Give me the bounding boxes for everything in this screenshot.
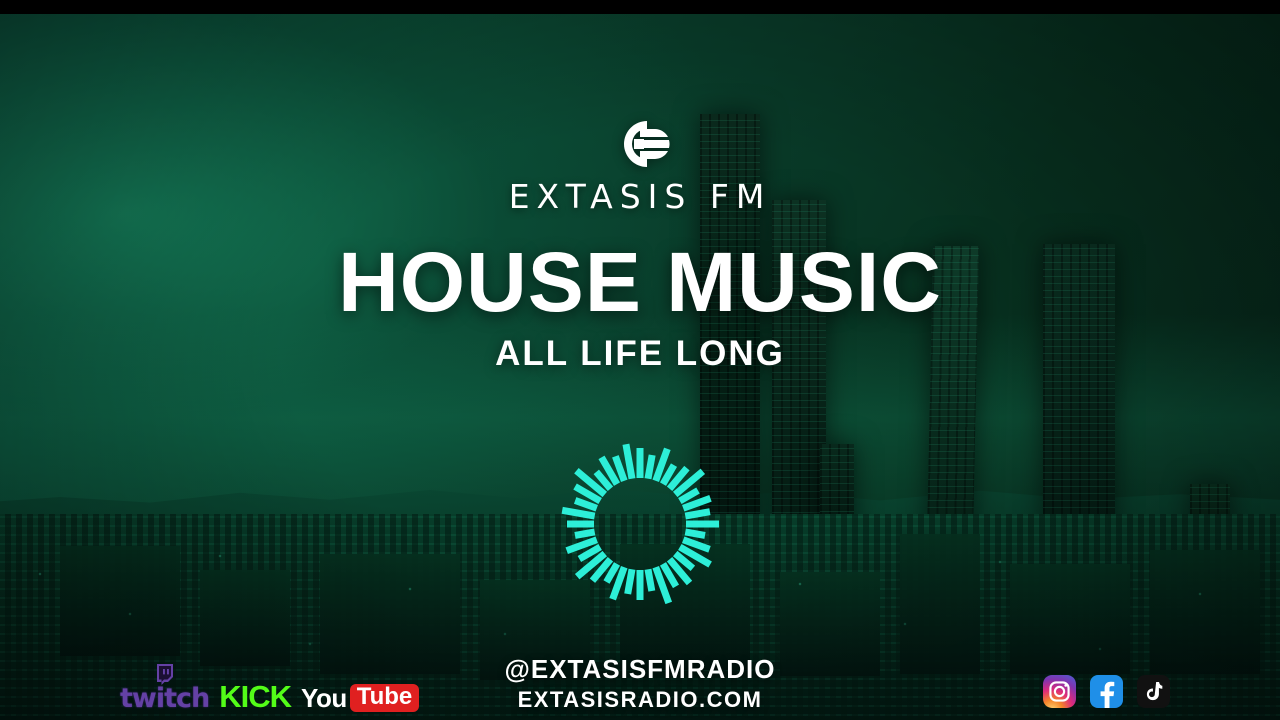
visualizer-bar bbox=[685, 529, 706, 539]
tiktok-icon[interactable] bbox=[1137, 675, 1170, 708]
visualizer-bar bbox=[686, 521, 719, 528]
visualizer-bar bbox=[567, 521, 594, 528]
circular-audio-visualizer-icon bbox=[535, 419, 745, 629]
facebook-icon[interactable] bbox=[1090, 675, 1123, 708]
visualizer-bar bbox=[574, 529, 595, 539]
visualizer-bar bbox=[637, 448, 644, 478]
visualizer-bar bbox=[645, 569, 656, 592]
footer-platforms-right bbox=[1043, 675, 1170, 708]
brand-wordmark: EXTASIS FM bbox=[509, 180, 772, 213]
visualizer-bar bbox=[637, 570, 644, 600]
instagram-icon[interactable] bbox=[1043, 675, 1076, 708]
broadcast-overlay-screen: EXTASIS FM HOUSE MUSIC ALL LIFE LONG bbox=[0, 0, 1280, 720]
hero-subheadline: ALL LIFE LONG bbox=[0, 336, 1280, 371]
letterbox-bar-top bbox=[0, 0, 1280, 14]
extasis-e-monogram-icon bbox=[607, 118, 673, 170]
hero-headline: HOUSE MUSIC bbox=[0, 240, 1280, 324]
footer-bar: twitch KICK You Tube @EXTASISFMRADIO EXT… bbox=[0, 628, 1280, 720]
overlay-content: EXTASIS FM HOUSE MUSIC ALL LIFE LONG bbox=[0, 14, 1280, 720]
brand-block: EXTASIS FM bbox=[0, 118, 1280, 213]
hero-text-block: HOUSE MUSIC ALL LIFE LONG bbox=[0, 240, 1280, 371]
